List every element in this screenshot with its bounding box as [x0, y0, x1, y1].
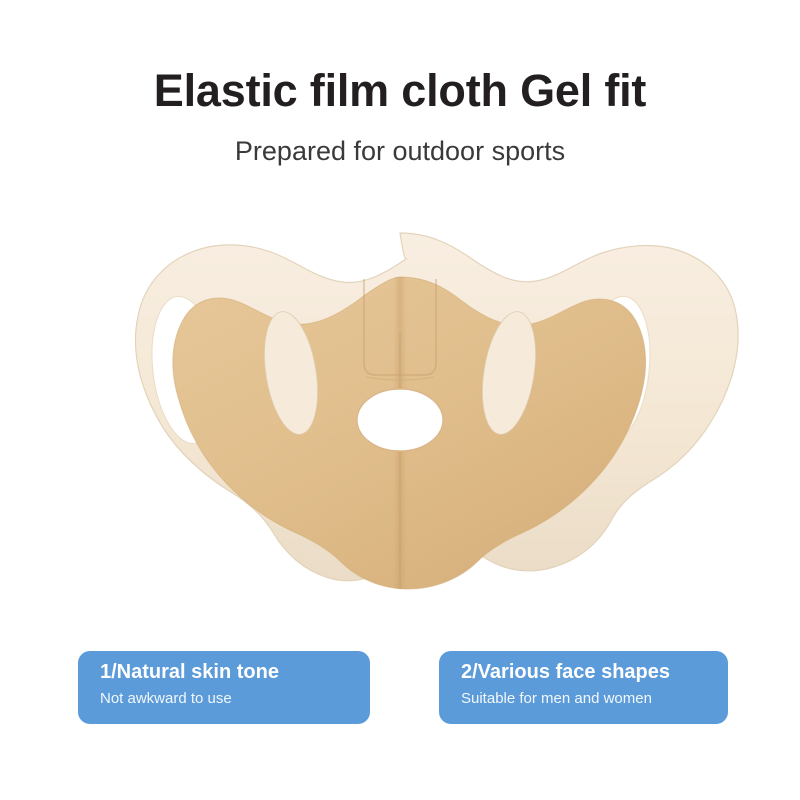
feature-list: 1/Natural skin tone Not awkward to use 2… [78, 651, 728, 724]
gel-fit-face-mask-illustration [20, 215, 780, 625]
feature-card-various-face-shapes[interactable]: 2/Various face shapes Suitable for men a… [439, 651, 728, 724]
product-banner: Elastic film cloth Gel fit Prepared for … [0, 0, 800, 800]
feature-title: 2/Various face shapes [461, 662, 728, 683]
page-title: Elastic film cloth Gel fit [0, 66, 800, 116]
feature-title: 1/Natural skin tone [100, 662, 370, 683]
feature-card-natural-skin-tone[interactable]: 1/Natural skin tone Not awkward to use [78, 651, 370, 724]
mouth-opening [357, 389, 443, 451]
page-subtitle: Prepared for outdoor sports [0, 116, 800, 167]
feature-subtitle: Suitable for men and women [461, 683, 728, 707]
product-image [20, 215, 780, 625]
feature-subtitle: Not awkward to use [100, 683, 370, 707]
header-block: Elastic film cloth Gel fit Prepared for … [0, 66, 800, 167]
